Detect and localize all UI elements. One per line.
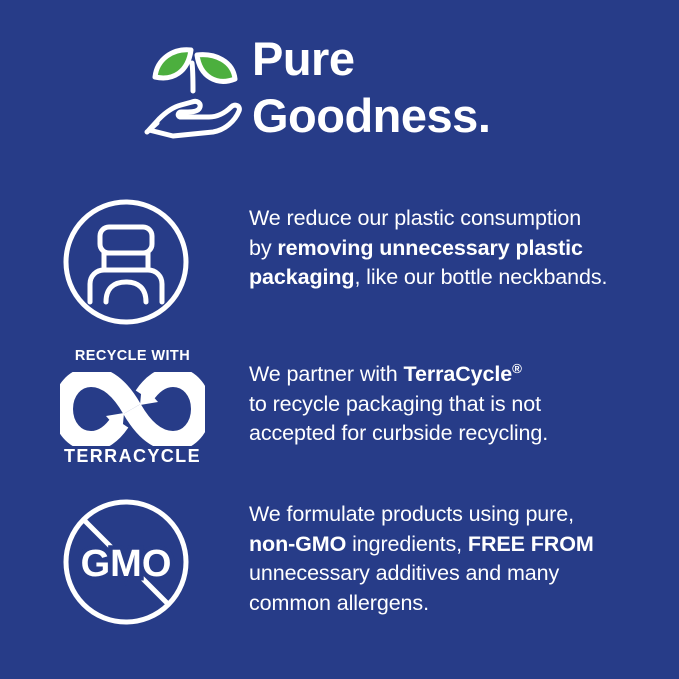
benefit-text-line: non-GMO ingredients, FREE FROM — [249, 530, 667, 560]
svg-text:GMO: GMO — [81, 543, 172, 585]
no-gmo-circle-icon: GMO — [60, 496, 192, 628]
text-segment: common allergens. — [249, 591, 429, 615]
pure-goodness-infographic: Pure Goodness. We reduce our plastic con… — [0, 0, 679, 679]
badge-registered-mark: ® — [194, 432, 200, 440]
text-segment: We formulate products using pure, — [249, 502, 574, 526]
text-segment: We partner with — [249, 362, 404, 386]
benefit-row-gmo: GMO We formulate products using pure,non… — [0, 496, 679, 628]
benefit-text-gmo: We formulate products using pure,non-GMO… — [249, 500, 667, 618]
text-segment: unnecessary additives and many — [249, 561, 559, 585]
benefit-text-line: We formulate products using pure, — [249, 500, 667, 530]
text-segment: , like our bottle neckbands. — [354, 265, 607, 289]
benefit-text-line: common allergens. — [249, 589, 667, 619]
benefit-row-terracycle: RECYCLE WITH ® TERRACYCLE We partner wit… — [0, 346, 679, 478]
text-segment: non-GMO — [249, 532, 346, 556]
benefit-text-line: to recycle packaging that is not — [249, 390, 667, 420]
text-segment: by — [249, 236, 277, 260]
benefit-text-line: packaging, like our bottle neckbands. — [249, 263, 667, 293]
benefit-row-plastic: We reduce our plastic consumptionby remo… — [0, 196, 679, 328]
page-title: Pure Goodness. — [252, 30, 672, 144]
benefit-text-terracycle: We partner with TerraCycle®to recycle pa… — [249, 360, 667, 449]
recycle-infinity-loop-icon — [60, 372, 205, 446]
benefit-text-line: We partner with TerraCycle® — [249, 360, 667, 390]
text-segment: TerraCycle — [404, 362, 513, 386]
text-segment: removing unnecessary plastic — [277, 236, 583, 260]
text-segment: ® — [512, 361, 522, 376]
text-segment: accepted for curbside recycling. — [249, 421, 548, 445]
badge-top-text: RECYCLE WITH — [60, 348, 205, 364]
terracycle-recycle-badge: RECYCLE WITH ® TERRACYCLE — [60, 346, 205, 472]
text-segment: to recycle packaging that is not — [249, 392, 541, 416]
title-line-2: Goodness. — [252, 87, 672, 144]
header: Pure Goodness. — [0, 0, 679, 175]
text-segment: packaging — [249, 265, 354, 289]
title-line-1: Pure — [252, 30, 672, 87]
text-segment: FREE FROM — [468, 532, 594, 556]
text-segment: ingredients, — [346, 532, 468, 556]
badge-bottom-text: TERRACYCLE — [60, 446, 205, 467]
benefit-text-line: accepted for curbside recycling. — [249, 419, 667, 449]
benefit-text-line: We reduce our plastic consumption — [249, 204, 667, 234]
benefit-text-plastic: We reduce our plastic consumptionby remo… — [249, 204, 667, 293]
text-segment: We reduce our plastic consumption — [249, 206, 581, 230]
benefit-text-line: unnecessary additives and many — [249, 559, 667, 589]
benefit-text-line: by removing unnecessary plastic — [249, 234, 667, 264]
hand-holding-sprout-icon — [143, 33, 253, 143]
bottle-neckband-circle-icon — [60, 196, 192, 328]
